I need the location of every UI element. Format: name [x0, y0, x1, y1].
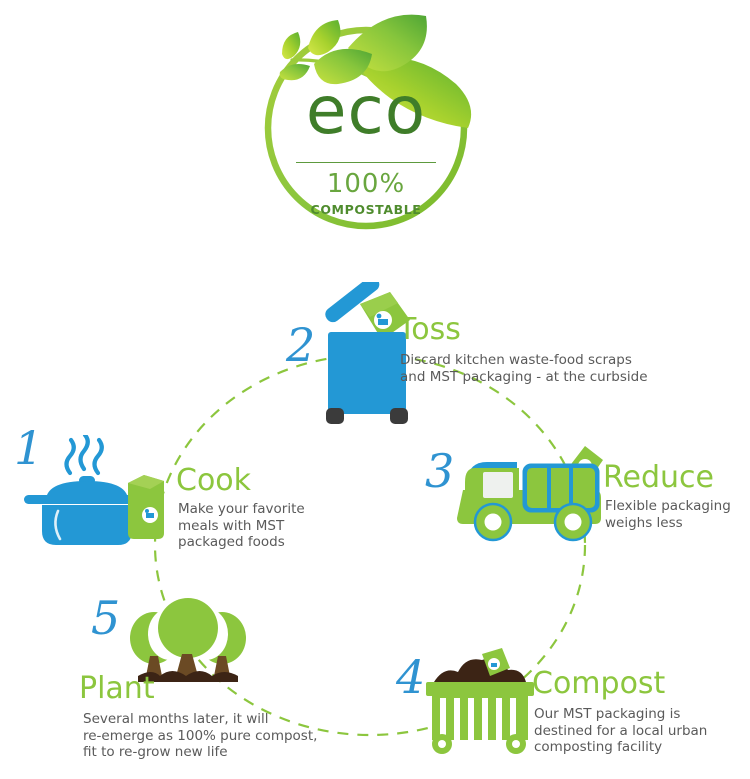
trees-icon: [130, 590, 246, 684]
step-description-reduce: Flexible packaging weighs less: [605, 498, 731, 531]
bin-body: [328, 332, 406, 414]
step-title-toss: Toss: [398, 314, 461, 346]
step-title-cook: Cook: [176, 465, 251, 497]
garbage-truck-icon: [457, 442, 607, 544]
eco-compostable-badge: eco 100% COMPOSTABLE: [252, 2, 480, 234]
bin-wheel-left: [326, 408, 344, 424]
compost-mound: [434, 658, 526, 682]
bin-wheel-right: [390, 408, 408, 424]
step-number-5: 5: [91, 595, 120, 641]
step-reduce: 3: [425, 440, 750, 560]
badge-subtitle: COMPOSTABLE: [252, 202, 480, 217]
badge-divider: [296, 162, 436, 163]
tree-center-canopy: [158, 598, 218, 658]
truck-window: [483, 472, 513, 498]
steam-icon: [67, 435, 102, 473]
step-compost: 4: [390, 640, 750, 770]
step-title-reduce: Reduce: [603, 462, 714, 494]
step-title-plant: Plant: [79, 673, 155, 705]
leaf-small-upper: [308, 20, 340, 55]
step-description-cook: Make your favorite meals with MST packag…: [178, 501, 305, 551]
step-description-plant: Several months later, it will re-emerge …: [83, 711, 317, 761]
compost-bin-icon: [420, 640, 540, 758]
step-title-compost: Compost: [532, 668, 665, 700]
step-number-3: 3: [425, 448, 454, 494]
eco-lifecycle-infographic: eco 100% COMPOSTABLE 1: [0, 0, 750, 779]
mst-package-icon: [122, 471, 170, 543]
bin-rim: [426, 682, 534, 696]
step-description-compost: Our MST packaging is destined for a loca…: [534, 706, 707, 756]
step-toss: 2 Toss Discard kitche: [280, 282, 660, 432]
step-description-toss: Discard kitchen waste-food scraps and MS…: [400, 352, 648, 385]
eco-word: eco: [252, 78, 480, 144]
step-cook: 1: [0, 425, 330, 565]
badge-percent: 100%: [252, 170, 480, 198]
step-plant: 5 Plant Several months later, it will re: [75, 585, 375, 770]
